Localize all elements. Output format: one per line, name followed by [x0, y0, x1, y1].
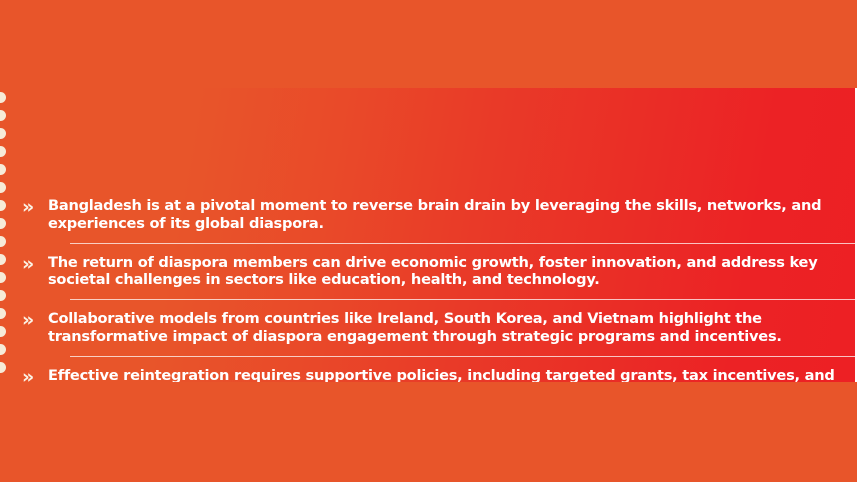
key-takeaways-banner: » Bangladesh is at a pivotal moment to r…: [0, 88, 857, 382]
double-chevron-icon: »: [22, 253, 48, 274]
bullet-list: » Bangladesh is at a pivotal moment to r…: [22, 196, 840, 382]
decorative-dot: [0, 182, 6, 193]
decorative-dot: [0, 110, 6, 121]
decorative-dot: [0, 272, 6, 283]
decorative-dot: [0, 236, 6, 247]
slide-canvas: » Bangladesh is at a pivotal moment to r…: [0, 0, 857, 482]
decorative-dot: [0, 290, 6, 301]
decorative-dot: [0, 128, 6, 139]
decorative-dot: [0, 254, 6, 265]
decorative-dot: [0, 164, 6, 175]
decorative-dot: [0, 362, 6, 373]
list-item: » Bangladesh is at a pivotal moment to r…: [22, 196, 840, 239]
bullet-divider: [70, 243, 857, 244]
list-item: » Effective reintegration requires suppo…: [22, 366, 840, 382]
bullet-text: Bangladesh is at a pivotal moment to rev…: [48, 196, 840, 233]
list-item: » Collaborative models from countries li…: [22, 309, 840, 352]
decorative-dot-rail: [0, 88, 14, 382]
double-chevron-icon: »: [22, 366, 48, 382]
decorative-dot: [0, 326, 6, 337]
double-chevron-icon: »: [22, 196, 48, 217]
decorative-dot: [0, 218, 6, 229]
double-chevron-icon: »: [22, 309, 48, 330]
decorative-dot: [0, 344, 6, 355]
bullet-divider: [70, 299, 857, 300]
decorative-dot: [0, 200, 6, 211]
decorative-dot: [0, 92, 6, 103]
bullet-text: Effective reintegration requires support…: [48, 366, 840, 382]
bullet-text: Collaborative models from countries like…: [48, 309, 840, 346]
bullet-text: The return of diaspora members can drive…: [48, 253, 840, 290]
list-item: » The return of diaspora members can dri…: [22, 253, 840, 296]
bullet-divider: [70, 356, 857, 357]
decorative-dot: [0, 146, 6, 157]
decorative-dot: [0, 308, 6, 319]
